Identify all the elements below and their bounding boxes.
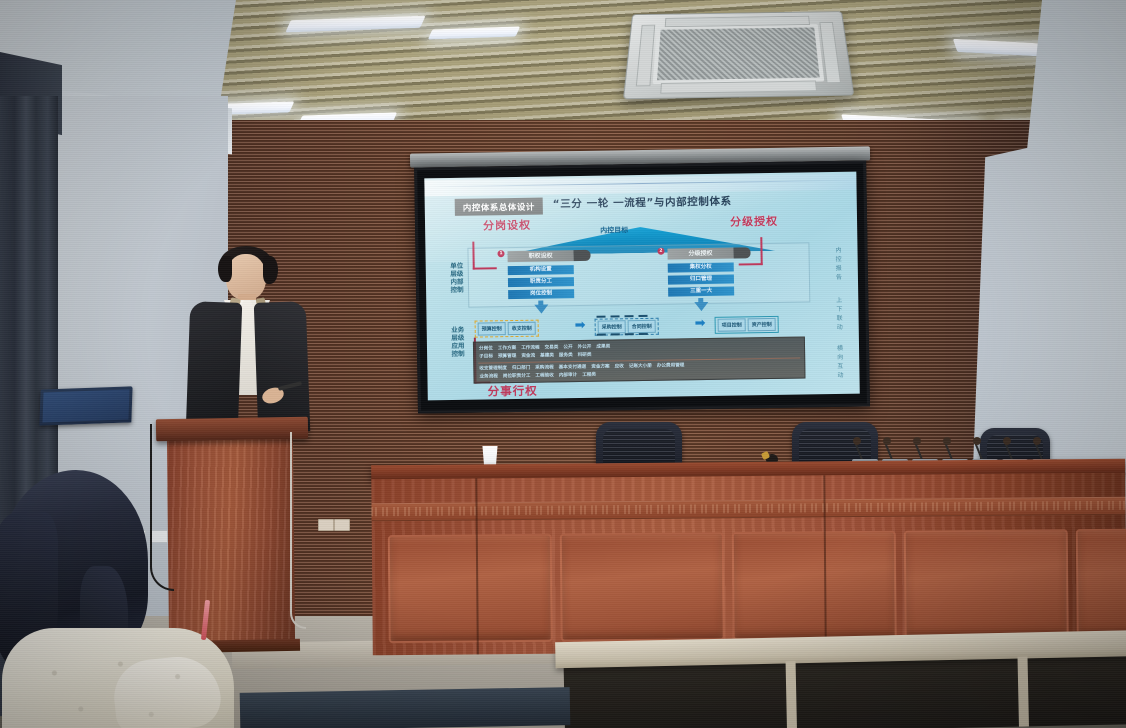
slide-left-bullet: 1 <box>497 250 504 257</box>
slide-flow-cell-2-0: 项目控制 <box>718 318 746 331</box>
foreground-desk-edge <box>240 687 571 728</box>
desk-panel-4 <box>904 529 1069 638</box>
slide-dash-4 <box>597 334 606 336</box>
dt-4-4: 工程类 <box>582 372 596 378</box>
podium-top <box>156 417 308 442</box>
slide-right-vertical-2: 上 下 联 动 <box>834 296 845 332</box>
audience-member <box>0 470 238 728</box>
slide-right-label: 分级授权 <box>730 213 778 230</box>
dt-4-0: 业务流程 <box>479 373 497 379</box>
slide-flow-group-0: 预算控制 收支控制 <box>475 320 539 338</box>
dt-3-1: 归口部门 <box>512 365 530 371</box>
slide-header-band <box>424 174 856 197</box>
dt-1-2: 工作流程 <box>521 345 539 351</box>
mic-capsule-icon <box>853 437 861 445</box>
slide-flow-cell-0-0: 预算控制 <box>478 322 506 335</box>
dt-1-0: 分岗位 <box>479 345 493 351</box>
desk-panel-3 <box>732 531 897 640</box>
mic-capsule-icon <box>883 437 891 445</box>
presenter-jacket-right <box>254 301 311 433</box>
ac-vane-bottom <box>660 81 817 94</box>
slide-bottom-label: 分事行权 <box>488 383 538 400</box>
mic-capsule-icon <box>1033 437 1041 445</box>
dt-1-5: 外公开 <box>578 344 592 350</box>
dt-3-6: 记账大小册 <box>629 363 652 369</box>
presenter-jacket-left <box>186 301 243 433</box>
slide-flow-cell-2-1: 资产控制 <box>748 318 776 331</box>
slide-left-item-0: 机构设置 <box>508 265 574 275</box>
slide-dash-1 <box>611 315 620 317</box>
dt-3-4: 资金方案 <box>591 364 609 370</box>
dt-1-6: 成果类 <box>596 344 610 350</box>
ac-grille <box>653 24 825 84</box>
slide-triangle-label: 内控目标 <box>600 225 628 235</box>
slide-content: 内控体系总体设计 “三分 一轮 一流程”与内部控制体系 内控目标 分岗设权 分级… <box>424 172 859 401</box>
slide-right-item-1: 归口管理 <box>668 275 734 285</box>
power-cable-2 <box>290 432 306 629</box>
dt-2-4: 服务类 <box>559 352 573 358</box>
audience-desk-divider-2 <box>1018 656 1029 726</box>
slide-flow-cell-1-1: 合同控制 <box>628 320 656 333</box>
slide-row-label-top: 单位层级内部控制 <box>450 262 465 294</box>
slide-left-item-2: 岗位控制 <box>508 289 574 299</box>
dt-4-2: 工程验收 <box>535 372 553 378</box>
slide-dash-0 <box>597 316 606 318</box>
slide-left-label: 分岗设权 <box>483 217 531 234</box>
slide-left-header: 职权设权 <box>507 250 573 262</box>
slide-right-vertical-1: 内 控 报 告 <box>833 246 844 282</box>
slide-dash-3 <box>639 315 648 317</box>
mic-capsule-icon <box>913 437 921 445</box>
slide-flow-cell-0-1: 收支控制 <box>508 322 536 335</box>
audience-desk-divider-1 <box>786 661 797 728</box>
ceiling-cassette-ac-icon <box>623 11 854 99</box>
panel-outlet-1[interactable] <box>318 519 334 531</box>
slide-flow-group-2: 项目控制 资产控制 <box>715 316 779 334</box>
slide-badge: 内控体系总体设计 <box>455 198 543 216</box>
presenter <box>186 248 306 433</box>
dt-3-5: 应收 <box>615 363 624 369</box>
dt-4-1: 岗位职责分工 <box>503 373 531 379</box>
desk-panel-5 <box>1076 529 1126 638</box>
slide-title: “三分 一轮 一流程”与内部控制体系 <box>553 194 732 212</box>
slide-flow-cell-1-0: 采购控制 <box>598 320 626 333</box>
dt-3-7: 办公费用管理 <box>657 362 685 368</box>
slide-left-arrow-down <box>534 304 548 313</box>
slide-flow-arrow-1: ➡ <box>695 317 706 330</box>
slide-flow-arrow-0: ➡ <box>575 319 586 332</box>
audience-coat-quilting <box>6 646 226 728</box>
slide-dash-5 <box>611 333 620 335</box>
slide-row-label-bottom: 业务层级应用控制 <box>451 326 466 358</box>
dt-2-2: 资金流 <box>521 353 535 359</box>
dt-2-5: 科研类 <box>578 352 592 358</box>
mic-capsule-icon <box>943 437 951 445</box>
slide-right-arrow-down <box>694 302 708 311</box>
mic-capsule-icon <box>1003 437 1011 445</box>
dt-1-4: 公开 <box>563 344 572 350</box>
slide-right-header: 分级授权 <box>667 248 733 260</box>
beige-audience-desk <box>555 630 1126 728</box>
slide-dash-7 <box>639 333 648 335</box>
slide-dark-table: 分岗位 工作方案 工作流程 交易类 公开 外公开 成果类 子目标 预算管理 资金… <box>473 336 806 383</box>
screen-frame: 内控体系总体设计 “三分 一轮 一流程”与内部控制体系 内控目标 分岗设权 分级… <box>414 160 870 413</box>
presenter-hair-side-left <box>218 256 232 282</box>
slide-dash-2 <box>625 315 634 317</box>
projection-screen[interactable]: 内控体系总体设计 “三分 一轮 一流程”与内部控制体系 内控目标 分岗设权 分级… <box>414 148 870 417</box>
slide-left-item-1: 职责分工 <box>508 277 574 287</box>
panel-outlet-2[interactable] <box>334 519 350 531</box>
desk-panel-1 <box>388 534 553 643</box>
dt-4-3: 内部审计 <box>559 372 577 378</box>
dt-2-1: 预算管理 <box>498 353 516 359</box>
dt-1-3: 交易类 <box>545 344 559 350</box>
hook-arrow-left <box>472 241 496 269</box>
slide-dash-6 <box>625 333 634 335</box>
slide-right-bullet: 2 <box>657 248 664 255</box>
dt-2-3: 基建类 <box>540 352 554 358</box>
slide-right-item-0: 集权分权 <box>668 263 734 273</box>
conference-head-desk <box>371 459 1126 656</box>
dt-2-0: 子目标 <box>479 353 493 359</box>
dt-1-1: 工作方案 <box>498 345 516 351</box>
mic-capsule-icon <box>973 437 981 445</box>
laptop[interactable] <box>39 386 132 425</box>
dt-3-2: 采购流程 <box>535 364 553 370</box>
slide-right-vertical-3: 横 向 互 动 <box>835 344 846 380</box>
dt-3-0: 收支管理制度 <box>479 365 507 371</box>
screen-surface: 内控体系总体设计 “三分 一轮 一流程”与内部控制体系 内控目标 分岗设权 分级… <box>424 172 859 401</box>
slide-right-item-2: 三重一大 <box>668 287 734 297</box>
desk-panel-2 <box>560 532 725 641</box>
dt-3-3: 基本支付通道 <box>559 364 587 370</box>
laptop-screen <box>43 389 130 422</box>
conference-room-photo: 内控体系总体设计 “三分 一轮 一流程”与内部控制体系 内控目标 分岗设权 分级… <box>0 0 1126 728</box>
presenter-hair-side-right <box>263 256 278 284</box>
